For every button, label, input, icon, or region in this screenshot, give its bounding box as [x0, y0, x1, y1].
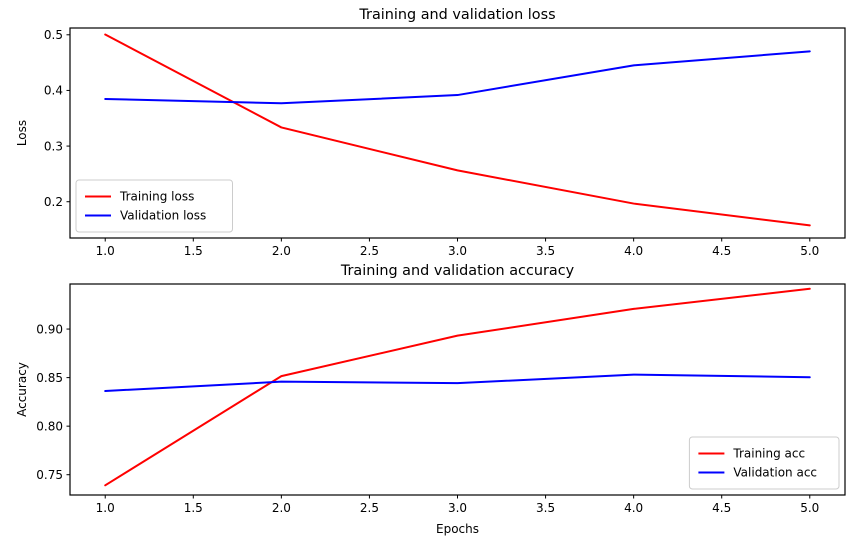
y-tick-label: 0.75 [36, 468, 63, 482]
y-tick-label: 0.90 [36, 322, 63, 336]
x-tick-label: 5.0 [800, 244, 819, 258]
x-tick-label: 2.0 [272, 244, 291, 258]
y-axis-label: Loss [15, 120, 29, 146]
x-tick-label: 1.5 [184, 244, 203, 258]
x-tick-label: 4.0 [624, 244, 643, 258]
legend-label: Training acc [732, 447, 805, 461]
x-tick-label: 1.0 [96, 244, 115, 258]
x-tick-label: 1.5 [184, 501, 203, 515]
y-tick-label: 0.4 [44, 84, 63, 98]
legend-label: Validation loss [120, 209, 206, 223]
y-axis-label: Accuracy [15, 362, 29, 417]
y-tick-label: 0.3 [44, 139, 63, 153]
x-tick-label: 5.0 [800, 501, 819, 515]
x-axis-label: Epochs [436, 522, 479, 536]
legend-background [689, 437, 839, 489]
chart-title: Training and validation accuracy [340, 263, 575, 279]
x-tick-label: 3.0 [448, 501, 467, 515]
x-tick-label: 4.5 [712, 244, 731, 258]
chart-title: Training and validation loss [358, 7, 555, 23]
y-tick-label: 0.2 [44, 195, 63, 209]
legend-label: Training loss [119, 190, 194, 204]
x-tick-label: 2.0 [272, 501, 291, 515]
legend-accuracy[interactable]: Training accValidation acc [689, 437, 839, 489]
x-axis-ticks: 1.01.52.02.53.03.54.04.55.0 [96, 495, 820, 515]
y-tick-label: 0.80 [36, 419, 63, 433]
y-tick-label: 0.85 [36, 371, 63, 385]
x-tick-label: 3.5 [536, 244, 555, 258]
matplotlib-figure: 1.01.52.02.53.03.54.04.55.00.20.30.40.5T… [0, 0, 855, 547]
x-tick-label: 3.5 [536, 501, 555, 515]
y-axis-ticks: 0.20.30.40.5 [44, 28, 70, 209]
y-axis-ticks: 0.750.800.850.90 [36, 322, 70, 482]
legend-loss[interactable]: Training lossValidation loss [76, 180, 233, 232]
x-tick-label: 1.0 [96, 501, 115, 515]
y-tick-label: 0.5 [44, 28, 63, 42]
axes-loss: 1.01.52.02.53.03.54.04.55.00.20.30.40.5T… [15, 7, 845, 258]
x-axis-ticks: 1.01.52.02.53.03.54.04.55.0 [96, 238, 820, 258]
figure-canvas: 1.01.52.02.53.03.54.04.55.00.20.30.40.5T… [0, 0, 855, 547]
x-tick-label: 2.5 [360, 244, 379, 258]
x-tick-label: 2.5 [360, 501, 379, 515]
x-tick-label: 4.0 [624, 501, 643, 515]
axes-accuracy: 1.01.52.02.53.03.54.04.55.00.750.800.850… [15, 263, 845, 536]
x-tick-label: 4.5 [712, 501, 731, 515]
legend-background [76, 180, 233, 232]
x-tick-label: 3.0 [448, 244, 467, 258]
legend-label: Validation acc [733, 466, 817, 480]
